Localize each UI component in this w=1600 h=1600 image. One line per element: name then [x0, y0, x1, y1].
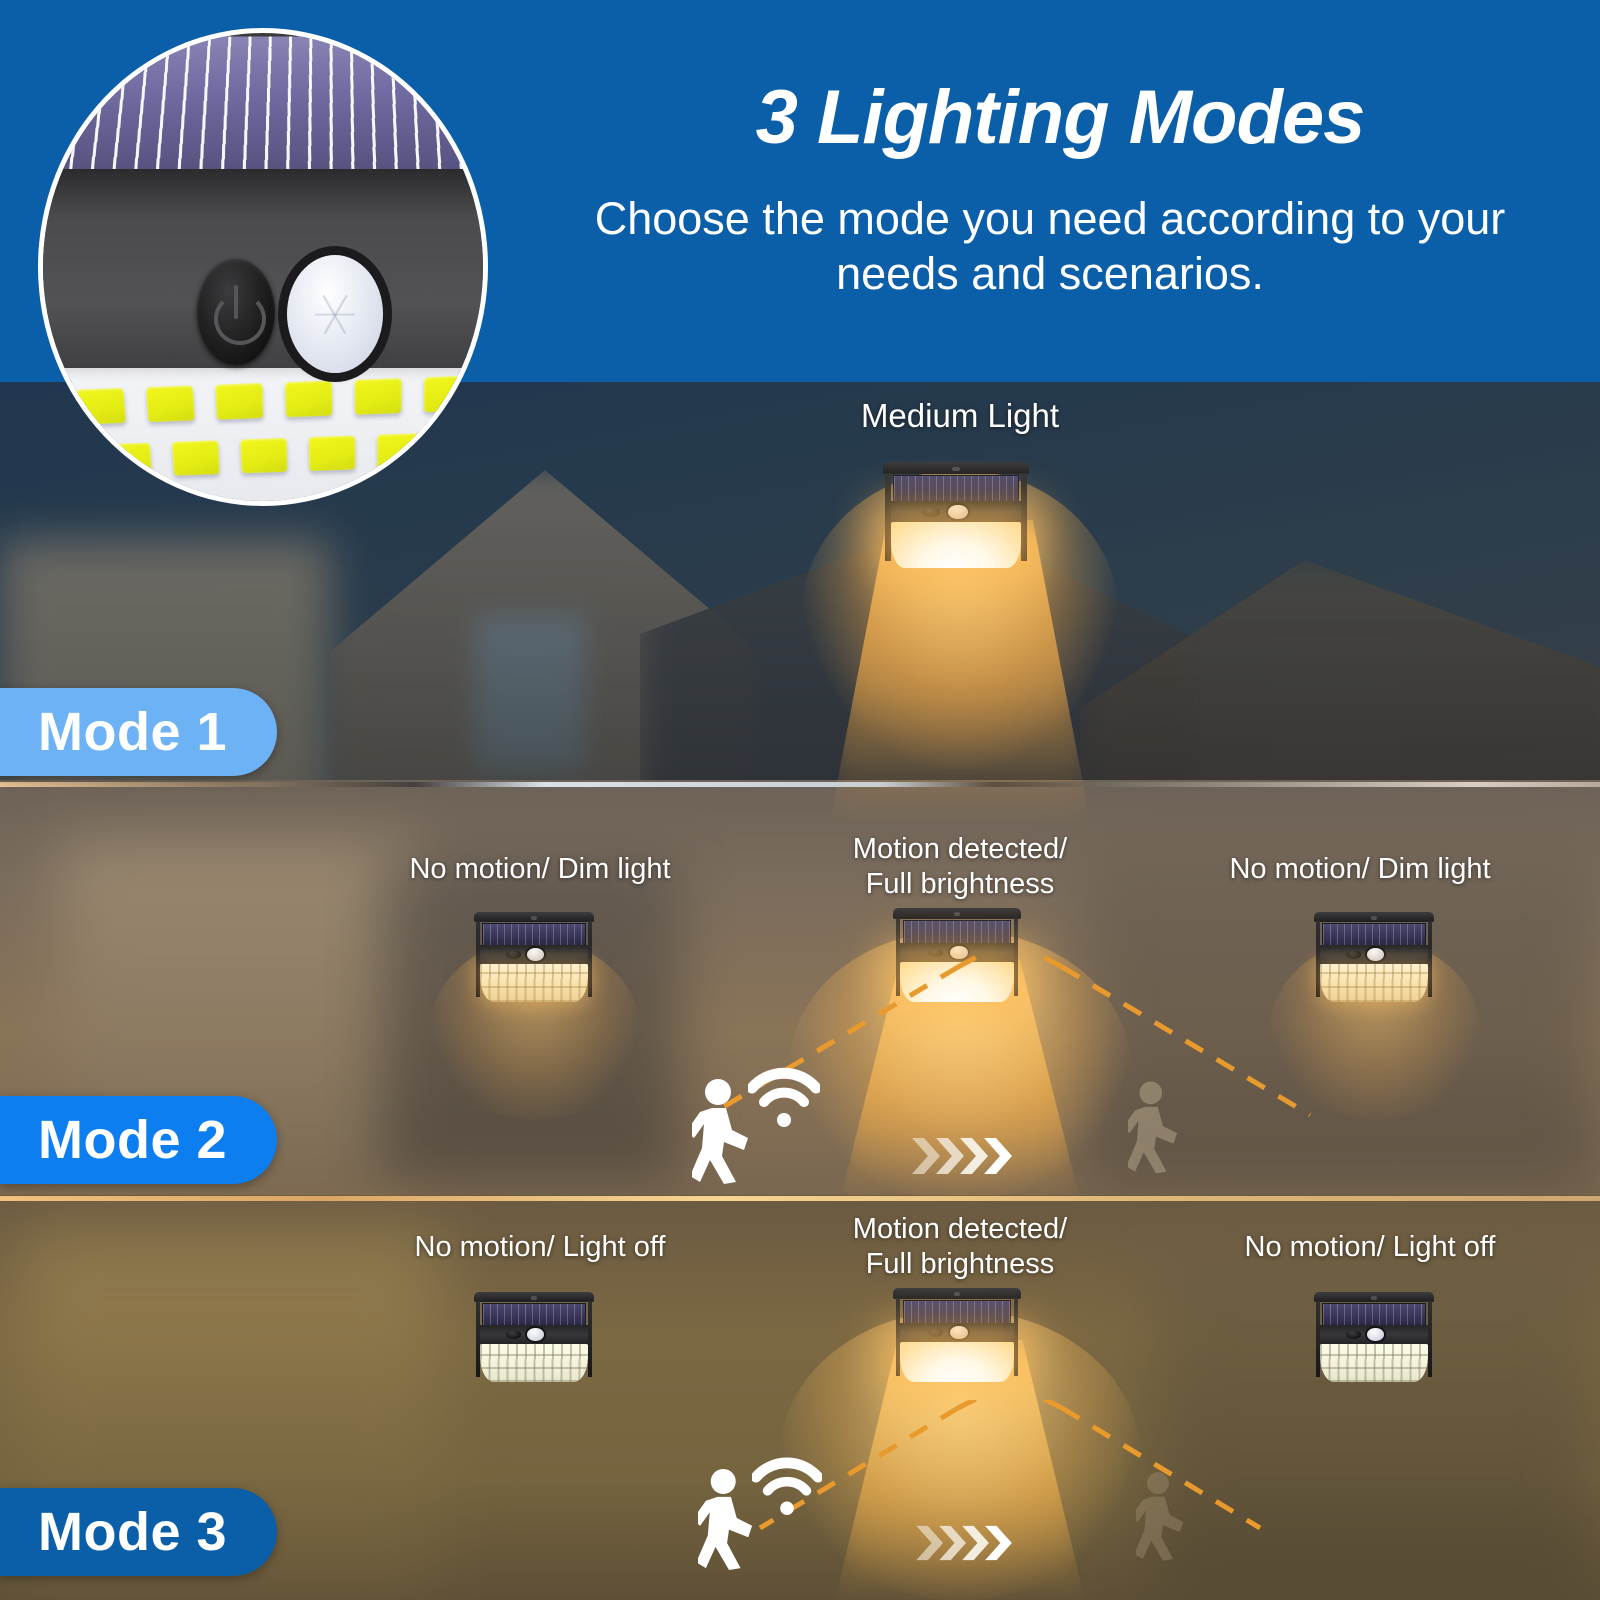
- lamp-cap: [1314, 1292, 1435, 1302]
- led-panel-off: [1320, 1344, 1428, 1383]
- pir-sensor-icon: [950, 1326, 968, 1339]
- led-panel-dim: [480, 964, 588, 1003]
- caption-mode2-left: No motion/ Dim light: [350, 852, 730, 887]
- led-chip: [377, 433, 423, 469]
- ghost-person-icon: [1136, 1470, 1190, 1562]
- lamp-side-left: [476, 921, 480, 996]
- power-button-icon[interactable]: [506, 1330, 521, 1339]
- lamp-side-left: [885, 473, 890, 562]
- led-chip: [240, 438, 287, 473]
- lamp-cap: [474, 912, 595, 922]
- badge-mode-1[interactable]: Mode 1: [0, 688, 277, 776]
- power-button-icon[interactable]: [922, 507, 940, 517]
- led-chip: [104, 443, 152, 478]
- lamp-side-right: [1428, 1301, 1432, 1376]
- wifi-signal-icon: [748, 1062, 820, 1128]
- walking-person-icon: [692, 1078, 756, 1184]
- lamp-mode2-right: [1318, 912, 1430, 1004]
- pir-sensor-icon: [287, 255, 383, 373]
- led-panel-bright: [891, 522, 1022, 567]
- lamp-side-right: [588, 921, 592, 996]
- house-window: [475, 615, 585, 770]
- led-row: [38, 373, 488, 426]
- ghost-person-icon: [1128, 1080, 1184, 1174]
- infographic-page: 3 Lighting Modes Choose the mode you nee…: [0, 0, 1600, 1600]
- lamp-cap: [1314, 912, 1435, 922]
- pir-sensor-icon: [1367, 948, 1384, 961]
- lamp-side-left: [896, 918, 901, 997]
- caption-mode2-right: No motion/ Dim light: [1170, 852, 1550, 887]
- caption-mode3-right: No motion/ Light off: [1180, 1230, 1560, 1265]
- led-panel-off: [480, 1344, 588, 1383]
- led-chip: [355, 378, 402, 415]
- divider-mode2-mode3: [0, 1196, 1600, 1201]
- led-chip: [309, 435, 356, 471]
- pir-sensor-icon: [950, 946, 968, 959]
- lamp-cap: [893, 908, 1020, 919]
- led-panel-bright: [900, 962, 1013, 1002]
- lamp-cap: [893, 1288, 1020, 1299]
- lamp-sensor-row: [1318, 1325, 1430, 1344]
- led-chip: [146, 385, 195, 422]
- led-chip: [424, 376, 472, 413]
- caption-mode3-center-line2: Full brightness: [765, 1247, 1155, 1282]
- caption-mode3-left: No motion/ Light off: [350, 1230, 730, 1265]
- solar-panel-icon: [482, 923, 585, 946]
- lamp-sensor-row: [898, 943, 1016, 963]
- solar-panel-icon: [893, 475, 1018, 502]
- led-chip: [285, 380, 333, 417]
- caption-mode2-center-line2: Full brightness: [765, 867, 1155, 902]
- lamp-side-right: [1021, 473, 1026, 562]
- pir-sensor-icon: [527, 1328, 544, 1341]
- solar-panel-icon: [1322, 1303, 1425, 1326]
- lamp-mode3-left: [478, 1292, 590, 1384]
- led-chip: [38, 445, 85, 480]
- chevron-arrows-icon: [916, 1522, 1016, 1564]
- caption-mode2-center-line1: Motion detected/: [765, 832, 1155, 867]
- mode2-blur-center: [380, 860, 680, 1180]
- solar-panel-icon: [903, 920, 1012, 944]
- pir-sensor-icon: [948, 505, 968, 520]
- power-button-icon[interactable]: [928, 948, 943, 957]
- lamp-side-left: [476, 1301, 480, 1376]
- led-panel-dim: [1320, 964, 1428, 1003]
- solar-panel-icon: [38, 37, 488, 180]
- badge-mode-2-label: Mode 2: [38, 1109, 227, 1171]
- led-chip: [215, 383, 263, 420]
- badge-mode-2[interactable]: Mode 2: [0, 1096, 277, 1184]
- badge-mode-3-label: Mode 3: [38, 1501, 227, 1563]
- caption-mode1-center: Medium Light: [770, 396, 1150, 436]
- led-chip: [172, 440, 220, 475]
- power-button-icon[interactable]: [1346, 950, 1361, 959]
- lamp-side-left: [896, 1298, 901, 1377]
- lamp-side-right: [1014, 918, 1019, 997]
- caption-mode2-center: Motion detected/ Full brightness: [765, 832, 1155, 902]
- lamp-side-left: [1316, 1301, 1320, 1376]
- chevron-arrows-icon: [912, 1134, 1016, 1178]
- lamp-mode2-left: [478, 912, 590, 1004]
- caption-mode3-center: Motion detected/ Full brightness: [765, 1212, 1155, 1282]
- lamp-sensor-row: [888, 501, 1024, 524]
- led-row: [38, 429, 488, 480]
- badge-mode-1-label: Mode 1: [38, 701, 227, 763]
- lamp-mode3-right: [1318, 1292, 1430, 1384]
- lamp-mode2-center: [898, 908, 1016, 1004]
- badge-mode-3[interactable]: Mode 3: [0, 1488, 277, 1576]
- page-subtitle: Choose the mode you need according to yo…: [580, 192, 1520, 302]
- led-chip: [77, 388, 126, 425]
- solar-panel-icon: [1322, 923, 1425, 946]
- lamp-mode1-center: [888, 462, 1024, 570]
- lamp-side-right: [1428, 921, 1432, 996]
- power-button-icon[interactable]: [506, 950, 521, 959]
- lamp-mode3-center: [898, 1288, 1016, 1384]
- lamp-cap: [474, 1292, 595, 1302]
- lamp-cap: [883, 462, 1030, 474]
- led-array-closeup: [38, 368, 488, 506]
- lamp-body-closeup: [43, 169, 483, 384]
- solar-panel-icon: [482, 1303, 585, 1326]
- product-closeup-circle: [38, 28, 488, 506]
- lamp-sensor-row: [478, 945, 590, 964]
- lamp-side-right: [1014, 1298, 1019, 1377]
- divider-mode1-mode2: [0, 782, 1600, 787]
- power-button-icon[interactable]: [928, 1328, 943, 1337]
- power-button-icon[interactable]: [1346, 1330, 1361, 1339]
- led-panel-bright: [900, 1342, 1013, 1382]
- lamp-side-left: [1316, 921, 1320, 996]
- lamp-side-right: [588, 1301, 592, 1376]
- caption-mode3-center-line1: Motion detected/: [765, 1212, 1155, 1247]
- wifi-signal-icon: [752, 1452, 822, 1516]
- pir-sensor-icon: [527, 948, 544, 961]
- power-button-icon[interactable]: [197, 259, 275, 365]
- walking-person-icon: [698, 1468, 760, 1570]
- lamp-sensor-row: [1318, 945, 1430, 964]
- pir-sensor-icon: [1367, 1328, 1384, 1341]
- solar-panel-icon: [903, 1300, 1012, 1324]
- lamp-sensor-row: [478, 1325, 590, 1344]
- page-title: 3 Lighting Modes: [620, 78, 1500, 158]
- lamp-sensor-row: [898, 1323, 1016, 1343]
